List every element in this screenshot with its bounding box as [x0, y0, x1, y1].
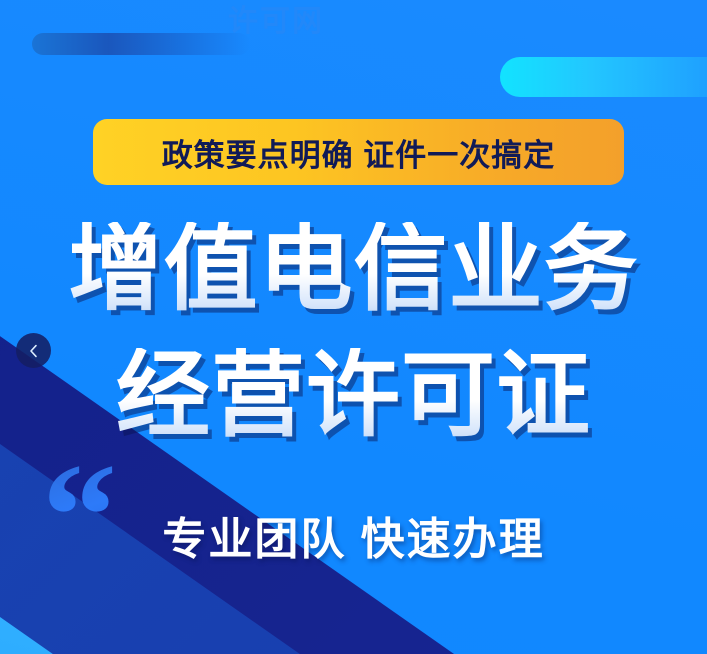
ribbon-label: 政策要点明确 证件一次搞定	[162, 130, 556, 175]
headline-line-2: 经营许可证	[0, 348, 707, 442]
headline-line-1: 增值电信业务	[0, 222, 707, 316]
carousel-prev-button[interactable]	[16, 333, 51, 368]
chevron-left-icon	[26, 343, 42, 359]
subheadline-label: 专业团队 快速办理	[0, 503, 707, 567]
promo-banner-slide: 许可网 政策要点明确 证件一次搞定 增值电信业务 经营许可证 “ 专业团队 快速…	[0, 0, 707, 654]
ribbon-banner: 政策要点明确 证件一次搞定	[93, 119, 624, 185]
decorative-pill-left	[32, 33, 250, 55]
decorative-pill-right	[500, 57, 707, 97]
